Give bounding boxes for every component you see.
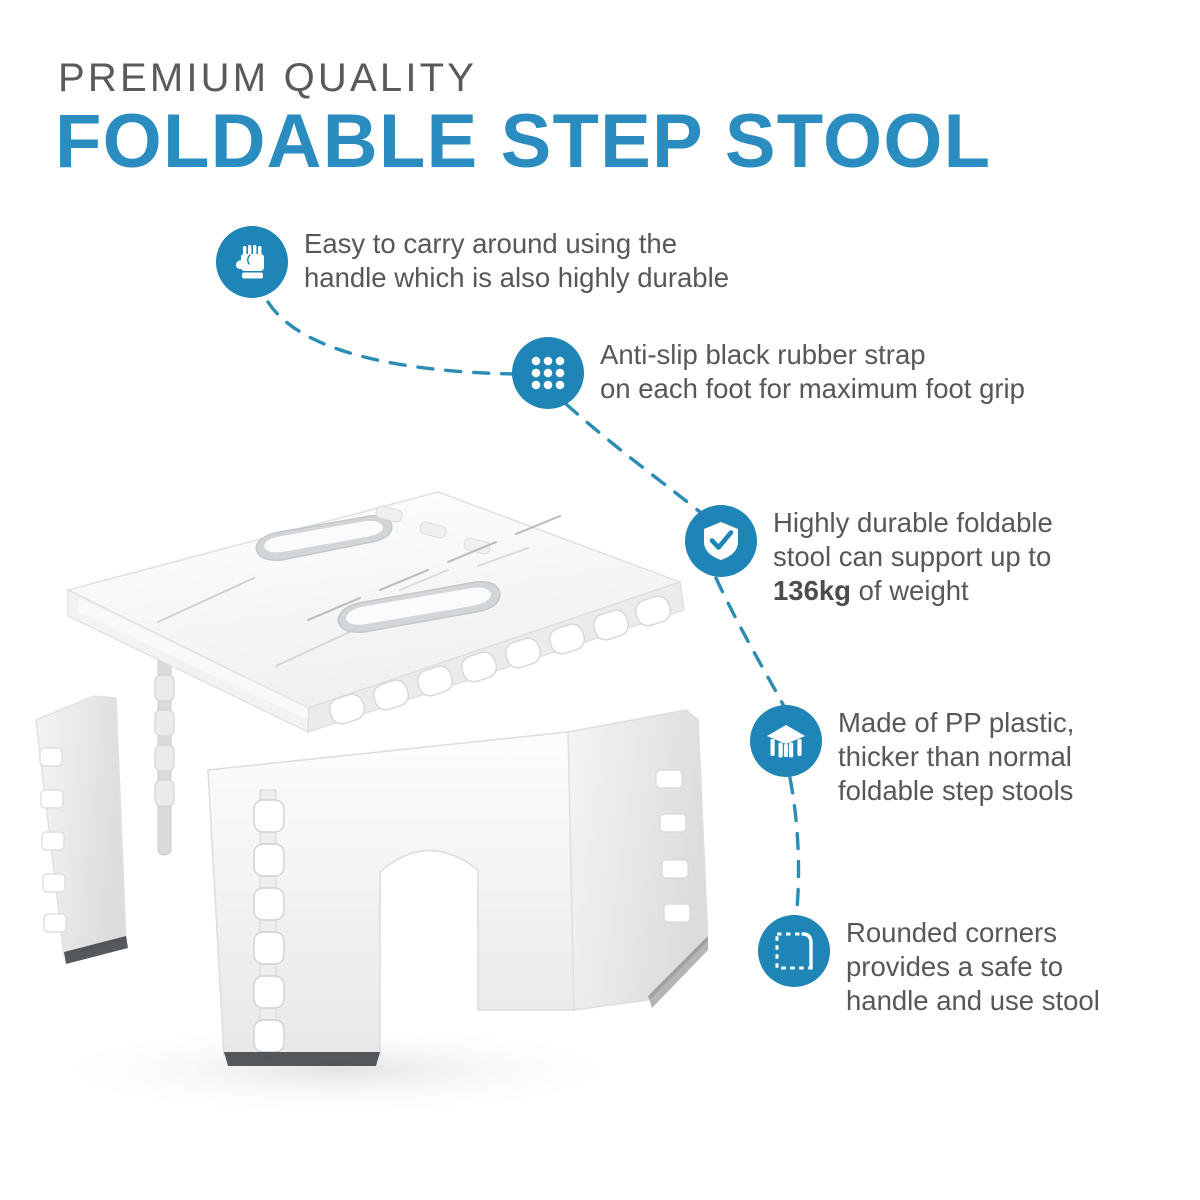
rounded-corner-icon bbox=[758, 915, 830, 987]
feature-item-weight[interactable]: Highly durable foldablestool can support… bbox=[685, 505, 1053, 608]
feature-item-antislip[interactable]: Anti-slip black rubber strap on each foo… bbox=[512, 337, 1025, 409]
page-title: FOLDABLE STEP STOOL bbox=[55, 104, 991, 180]
feature-text: Made of PP plastic, thicker than normal … bbox=[838, 705, 1074, 808]
stool-table-icon bbox=[750, 705, 822, 777]
fold-bar bbox=[155, 655, 174, 855]
feature-text: Anti-slip black rubber strap on each foo… bbox=[600, 337, 1025, 406]
feature-text: Highly durable foldablestool can support… bbox=[773, 505, 1053, 608]
feature-item-carry[interactable]: Easy to carry around using the handle wh… bbox=[216, 226, 729, 298]
infographic-canvas: PREMIUM QUALITY FOLDABLE STEP STOOL bbox=[0, 0, 1200, 1200]
feature-text: Rounded corners provides a safe to handl… bbox=[846, 915, 1100, 1018]
dot-grid-icon bbox=[512, 337, 584, 409]
product-image bbox=[8, 470, 708, 1130]
feature-item-material[interactable]: Made of PP plastic, thicker than normal … bbox=[750, 705, 1074, 808]
feature-text: Easy to carry around using the handle wh… bbox=[304, 226, 729, 295]
hand-grip-icon bbox=[216, 226, 288, 298]
feature-item-rounded[interactable]: Rounded corners provides a safe to handl… bbox=[758, 915, 1100, 1018]
kicker-text: PREMIUM QUALITY bbox=[58, 58, 477, 98]
shield-check-icon bbox=[685, 505, 757, 577]
